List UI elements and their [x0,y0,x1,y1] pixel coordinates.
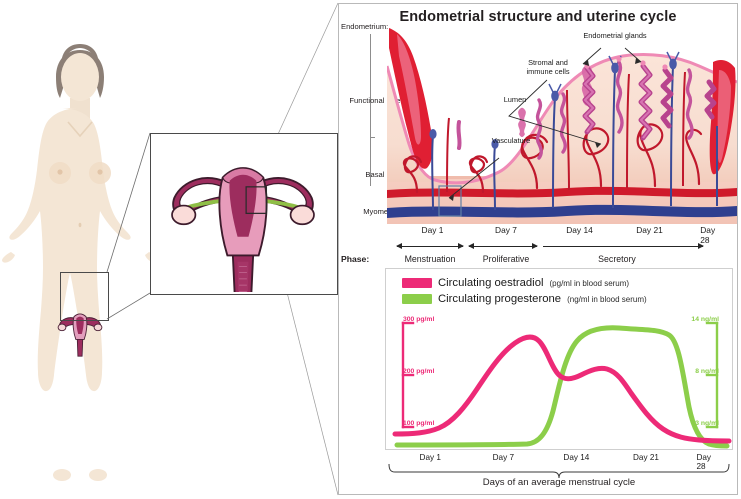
legend-item-oestradiol: Circulating oestradiol (pg/ml in blood s… [402,277,629,289]
legend-swatch-oestradiol [402,278,432,288]
phase-name-secretory: Secretory [598,254,636,264]
cycle-axis-brace [385,464,733,478]
cycle-day-tick: Day 21 [633,453,659,462]
callout-endometrial-glands: Endometrial glands [583,32,647,41]
y-tick-left-100: 100 pg/ml [403,420,434,427]
y-tick-right-8: 8 ng/ml [695,368,719,375]
legend-unit-oestradiol: (pg/ml in blood serum) [550,279,630,288]
legend-unit-progesterone: (ng/ml in blood serum) [567,295,647,304]
hormone-chart-panel: Circulating oestradiol (pg/ml in blood s… [385,268,733,450]
day-tick: Day 21 [636,225,663,235]
cycle-axis-caption: Days of an average menstrual cycle [385,477,733,488]
female-body-figure [0,30,160,485]
uterus-anatomy-inset [150,133,338,295]
pelvis-zoom-box [60,272,109,321]
callout-vasculature: Vasculature [482,137,540,146]
day-tick: Day 7 [495,225,517,235]
main-figure-panel: Endometrial structure and uterine cycle … [338,3,738,495]
y-tick-left-300: 300 pg/ml [403,316,434,323]
figure-root: Endometrial structure and uterine cycle … [0,0,741,499]
day-tick: Day 1 [422,225,444,235]
endometrium-histology-illustration: Endometrial glands Stromal and immune ce… [387,26,737,224]
histology-day-axis: Day 1 Day 7 Day 14 Day 21 Day 28 [387,223,737,239]
endometrium-bracket-tick [370,137,375,138]
phase-name-proliferative: Proliferative [483,254,529,264]
cycle-day-axis: Day 1 Day 7 Day 14 Day 21 Day 28 Days of… [385,451,733,495]
cycle-day-tick: Day 14 [563,453,589,462]
legend-label-oestradiol: Circulating oestradiol [438,277,544,289]
day-tick: Day 14 [566,225,593,235]
callout-stromal-immune-cells: Stromal and immune cells [515,59,581,76]
phase-arrow-menstruation [397,246,463,247]
phase-name-menstruation: Menstruation [405,254,456,264]
y-tick-right-3: 3 ng/ml [695,420,719,427]
callout-lumen: Lumen [495,96,535,105]
y-tick-left-200: 200 pg/ml [403,368,434,375]
phase-arrow-secretory [543,246,703,247]
legend-swatch-progesterone [402,294,432,304]
cycle-day-tick: Day 1 [420,453,441,462]
phase-arrow-proliferative [469,246,537,247]
y-tick-right-14: 14 ng/ml [691,316,719,323]
cycle-day-tick: Day 7 [493,453,514,462]
hormone-plot-area: 300 pg/ml 200 pg/ml 100 pg/ml 14 ng/ml 8… [387,315,733,450]
legend-label-progesterone: Circulating progesterone [438,293,561,305]
legend-item-progesterone: Circulating progesterone (ng/ml in blood… [402,293,647,305]
endometrium-bracket [370,34,371,186]
phase-label: Phase: [341,254,369,264]
